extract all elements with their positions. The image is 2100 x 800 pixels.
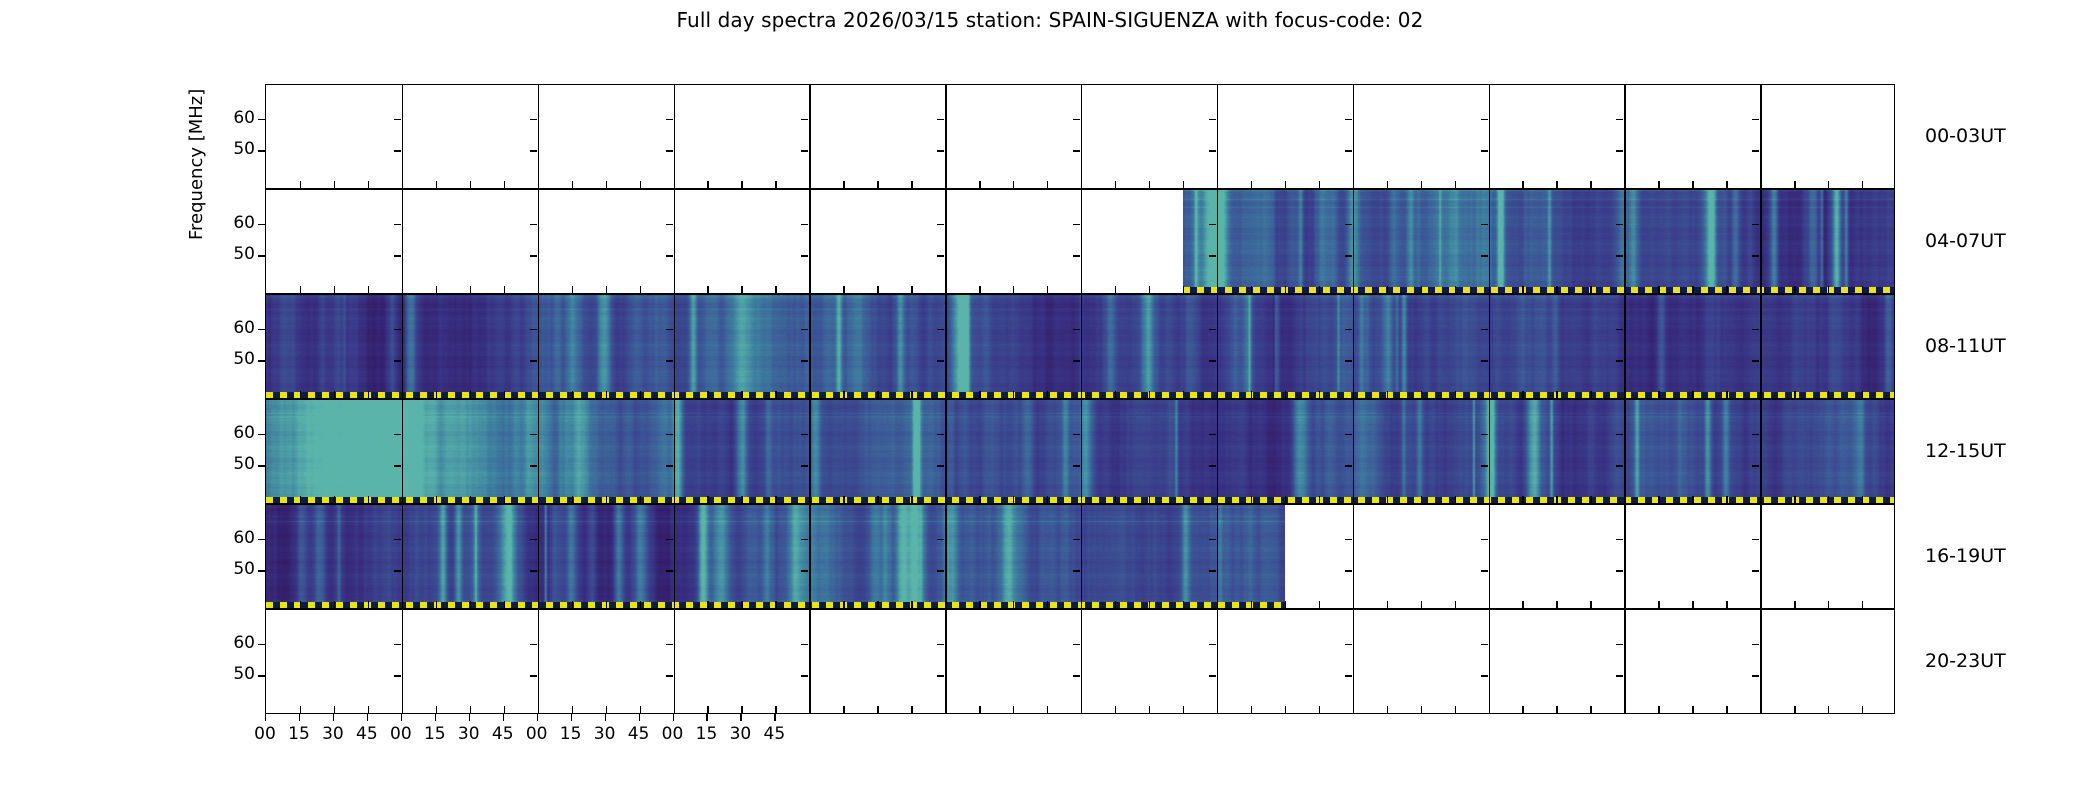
minor-tick — [1421, 706, 1422, 713]
y-tick-mark-inner — [801, 570, 808, 571]
minor-tick — [741, 286, 742, 293]
hour-separator — [809, 295, 810, 398]
minor-tick — [606, 286, 607, 293]
y-tick-mark-inner — [1616, 119, 1623, 120]
minor-tick — [1387, 706, 1388, 713]
minor-tick — [300, 496, 301, 503]
minor-tick — [1590, 286, 1591, 293]
y-tick-mark-inner — [666, 644, 673, 645]
spectrogram-panel — [265, 294, 1895, 399]
y-tick-mark-inner — [801, 150, 808, 151]
x-tick-label: 00 — [254, 724, 276, 744]
y-tick-mark-inner — [1073, 329, 1080, 330]
hour-separator — [1760, 295, 1761, 398]
minor-tick — [1556, 181, 1557, 188]
x-tick-mark — [537, 714, 538, 721]
spectrogram-data — [1183, 190, 1895, 293]
y-tick-mark-inner — [1073, 255, 1080, 256]
minor-tick — [334, 286, 335, 293]
hour-separator — [945, 400, 946, 503]
minor-tick — [1421, 286, 1422, 293]
y-tick-mark-inner — [666, 119, 673, 120]
hour-separator — [945, 85, 946, 188]
hour-separator — [1353, 400, 1354, 503]
minor-tick — [1455, 706, 1456, 713]
minor-tick — [1047, 286, 1048, 293]
minor-tick — [1047, 496, 1048, 503]
y-tick-mark-inner — [1073, 434, 1080, 435]
y-tick-mark-inner — [666, 465, 673, 466]
minor-tick — [1828, 496, 1829, 503]
minor-tick — [1149, 391, 1150, 398]
minor-tick — [843, 286, 844, 293]
minor-tick — [1421, 601, 1422, 608]
x-tick-mark — [367, 714, 368, 721]
minor-tick — [368, 601, 369, 608]
y-tick-mark-inner — [1752, 360, 1759, 361]
x-axis: 00153045001530450015304500153045 — [265, 714, 1895, 754]
minor-tick — [1692, 181, 1693, 188]
y-tick-mark — [258, 675, 265, 676]
minor-tick — [1013, 391, 1014, 398]
hour-separator — [402, 190, 403, 293]
minor-tick — [572, 391, 573, 398]
x-tick-mark — [740, 714, 741, 721]
minor-tick — [1387, 496, 1388, 503]
minor-tick — [1285, 181, 1286, 188]
y-tick-mark-inner — [1616, 434, 1623, 435]
x-tick-mark — [706, 714, 707, 721]
y-tick-mark — [258, 329, 265, 330]
y-tick-mark-inner — [1345, 150, 1352, 151]
y-tick-mark-inner — [1616, 539, 1623, 540]
y-tick-mark-inner — [801, 360, 808, 361]
y-tick-mark-inner — [801, 644, 808, 645]
minor-tick — [1251, 601, 1252, 608]
y-tick-mark-inner — [530, 150, 537, 151]
y-tick-mark — [258, 434, 265, 435]
minor-tick — [1115, 706, 1116, 713]
minor-tick — [911, 391, 912, 398]
hour-separator — [809, 85, 810, 188]
minor-tick — [1421, 496, 1422, 503]
x-tick-mark — [503, 714, 504, 721]
minor-tick — [1828, 601, 1829, 608]
minor-tick — [1047, 391, 1048, 398]
hour-separator — [1353, 505, 1354, 608]
y-tick-mark — [258, 150, 265, 151]
minor-tick — [1556, 391, 1557, 398]
minor-tick — [470, 601, 471, 608]
x-tick-label: 45 — [628, 724, 650, 744]
minor-tick — [334, 706, 335, 713]
minor-tick — [1013, 706, 1014, 713]
minor-tick — [741, 601, 742, 608]
y-tick-mark-inner — [1345, 119, 1352, 120]
minor-tick — [1862, 496, 1863, 503]
y-tick-mark-inner — [666, 434, 673, 435]
y-tick-mark-inner — [1209, 644, 1216, 645]
minor-tick — [1421, 181, 1422, 188]
y-tick-mark-inner — [1345, 465, 1352, 466]
row-time-label: 08-11UT — [1925, 335, 2006, 357]
y-tick-mark-inner — [530, 465, 537, 466]
y-tick-mark-inner — [666, 224, 673, 225]
y-tick-mark — [258, 644, 265, 645]
minor-tick — [1862, 181, 1863, 188]
y-tick-mark-inner — [666, 255, 673, 256]
minor-tick — [1794, 601, 1795, 608]
row-time-label: 12-15UT — [1925, 440, 2006, 462]
hour-separator — [402, 610, 403, 713]
minor-tick — [334, 181, 335, 188]
hour-separator — [1081, 85, 1082, 188]
hour-separator — [402, 400, 403, 503]
minor-tick — [911, 286, 912, 293]
hour-separator — [1624, 505, 1625, 608]
hour-separator — [1489, 505, 1490, 608]
minor-tick — [1183, 391, 1184, 398]
minor-tick — [843, 391, 844, 398]
minor-tick — [741, 181, 742, 188]
minor-tick — [979, 496, 980, 503]
spectrogram-texture — [1183, 190, 1895, 293]
minor-tick — [877, 286, 878, 293]
minor-tick — [775, 601, 776, 608]
y-tick-label: 60 — [221, 633, 255, 653]
hour-separator — [674, 610, 675, 713]
minor-tick — [1828, 181, 1829, 188]
minor-tick — [300, 286, 301, 293]
minor-tick — [640, 286, 641, 293]
hour-separator — [1624, 400, 1625, 503]
y-tick-mark-inner — [1073, 119, 1080, 120]
minor-tick — [775, 706, 776, 713]
x-tick-mark — [265, 714, 266, 721]
minor-tick — [606, 706, 607, 713]
minor-tick — [1251, 706, 1252, 713]
hour-separator — [1217, 400, 1218, 503]
minor-tick — [1692, 601, 1693, 608]
minor-tick — [368, 496, 369, 503]
y-tick-mark-inner — [937, 119, 944, 120]
minor-tick — [1285, 391, 1286, 398]
minor-tick — [1726, 706, 1727, 713]
y-tick-mark-inner — [530, 329, 537, 330]
minor-tick — [1522, 181, 1523, 188]
minor-tick — [1387, 286, 1388, 293]
minor-tick — [1251, 496, 1252, 503]
hour-separator — [538, 295, 539, 398]
minor-tick — [1149, 181, 1150, 188]
y-tick-mark-inner — [394, 465, 401, 466]
y-tick-mark-inner — [530, 224, 537, 225]
minor-tick — [1658, 286, 1659, 293]
hour-separator — [1760, 85, 1761, 188]
spectrogram-panel — [265, 189, 1895, 294]
y-tick-mark-inner — [1481, 150, 1488, 151]
minor-tick — [741, 496, 742, 503]
y-tick-mark-inner — [1752, 329, 1759, 330]
minor-tick — [1251, 181, 1252, 188]
minor-tick — [1692, 286, 1693, 293]
y-tick-mark-inner — [801, 119, 808, 120]
minor-tick — [1387, 601, 1388, 608]
y-tick-mark-inner — [1752, 465, 1759, 466]
minor-tick — [1115, 496, 1116, 503]
minor-tick — [1522, 286, 1523, 293]
minor-tick — [606, 601, 607, 608]
hour-separator — [945, 295, 946, 398]
data-presence-dashline — [1183, 287, 1895, 293]
y-tick-mark-inner — [937, 329, 944, 330]
minor-tick — [300, 706, 301, 713]
x-tick-label: 15 — [696, 724, 718, 744]
minor-tick — [436, 601, 437, 608]
minor-tick — [470, 496, 471, 503]
y-tick-label: 50 — [221, 454, 255, 474]
minor-tick — [707, 286, 708, 293]
minor-tick — [1794, 181, 1795, 188]
minor-tick — [504, 496, 505, 503]
y-tick-mark-inner — [1481, 570, 1488, 571]
hour-separator — [1081, 610, 1082, 713]
minor-tick — [1658, 391, 1659, 398]
y-tick-mark-inner — [1073, 675, 1080, 676]
y-tick-mark-inner — [1209, 465, 1216, 466]
minor-tick — [1047, 601, 1048, 608]
minor-tick — [572, 496, 573, 503]
y-tick-mark-inner — [394, 329, 401, 330]
y-tick-mark-inner — [394, 570, 401, 571]
minor-tick — [1455, 601, 1456, 608]
y-tick-mark-inner — [530, 539, 537, 540]
minor-tick — [1115, 391, 1116, 398]
hour-separator — [1489, 295, 1490, 398]
minor-tick — [1726, 601, 1727, 608]
hour-separator — [1489, 190, 1490, 293]
y-tick-mark-inner — [666, 150, 673, 151]
hour-separator — [1217, 190, 1218, 293]
minor-tick — [1726, 181, 1727, 188]
minor-tick — [911, 601, 912, 608]
hour-separator — [674, 295, 675, 398]
y-tick-mark-inner — [801, 255, 808, 256]
y-tick-mark-inner — [1345, 360, 1352, 361]
y-tick-mark-inner — [394, 434, 401, 435]
minor-tick — [1421, 391, 1422, 398]
minor-tick — [1692, 496, 1693, 503]
hour-separator — [1760, 400, 1761, 503]
minor-tick — [1726, 391, 1727, 398]
minor-tick — [640, 496, 641, 503]
x-tick-label: 15 — [288, 724, 310, 744]
minor-tick — [368, 286, 369, 293]
y-tick-mark-inner — [1616, 465, 1623, 466]
minor-tick — [1115, 286, 1116, 293]
y-tick-mark-inner — [1481, 119, 1488, 120]
y-tick-mark-inner — [530, 360, 537, 361]
x-tick-label: 00 — [390, 724, 412, 744]
minor-tick — [504, 706, 505, 713]
y-tick-mark-inner — [1345, 255, 1352, 256]
minor-tick — [1183, 601, 1184, 608]
y-tick-mark-inner — [1481, 675, 1488, 676]
y-tick-mark-inner — [1616, 360, 1623, 361]
x-tick-mark — [299, 714, 300, 721]
minor-tick — [640, 181, 641, 188]
hour-separator — [402, 505, 403, 608]
y-tick-label: 50 — [221, 559, 255, 579]
y-tick-mark-inner — [1752, 224, 1759, 225]
minor-tick — [300, 391, 301, 398]
minor-tick — [606, 181, 607, 188]
hour-separator — [1760, 190, 1761, 293]
y-tick-mark-inner — [1209, 150, 1216, 151]
y-tick-mark-inner — [1073, 150, 1080, 151]
minor-tick — [1862, 286, 1863, 293]
hour-separator — [538, 85, 539, 188]
y-tick-mark-inner — [937, 539, 944, 540]
y-tick-mark-inner — [1616, 224, 1623, 225]
minor-tick — [877, 181, 878, 188]
minor-tick — [1013, 496, 1014, 503]
y-tick-label: 50 — [221, 664, 255, 684]
figure-title: Full day spectra 2026/03/15 station: SPA… — [0, 8, 2100, 32]
minor-tick — [1658, 181, 1659, 188]
minor-tick — [1149, 496, 1150, 503]
y-tick-mark-inner — [1752, 434, 1759, 435]
minor-tick — [504, 181, 505, 188]
minor-tick — [1183, 181, 1184, 188]
minor-tick — [1115, 181, 1116, 188]
spectrogram-figure: Full day spectra 2026/03/15 station: SPA… — [0, 0, 2100, 800]
minor-tick — [1251, 286, 1252, 293]
minor-tick — [1862, 706, 1863, 713]
y-tick-label: 60 — [221, 528, 255, 548]
minor-tick — [1183, 286, 1184, 293]
minor-tick — [1319, 181, 1320, 188]
minor-tick — [300, 601, 301, 608]
minor-tick — [436, 181, 437, 188]
y-tick-mark-inner — [1209, 570, 1216, 571]
x-tick-mark — [774, 714, 775, 721]
minor-tick — [1794, 391, 1795, 398]
minor-tick — [979, 286, 980, 293]
minor-tick — [368, 391, 369, 398]
y-tick-mark-inner — [937, 255, 944, 256]
y-tick-mark-inner — [1616, 675, 1623, 676]
minor-tick — [1285, 706, 1286, 713]
x-tick-label: 30 — [594, 724, 616, 744]
spectrogram-panel — [265, 609, 1895, 714]
y-tick-mark-inner — [1481, 434, 1488, 435]
minor-tick — [1319, 496, 1320, 503]
y-tick-mark-inner — [1209, 255, 1216, 256]
x-tick-mark — [435, 714, 436, 721]
y-tick-mark-inner — [937, 570, 944, 571]
minor-tick — [1726, 286, 1727, 293]
hour-separator — [1624, 85, 1625, 188]
y-tick-mark-inner — [1209, 119, 1216, 120]
minor-tick — [1522, 391, 1523, 398]
row-time-label: 16-19UT — [1925, 545, 2006, 567]
y-tick-mark-inner — [394, 150, 401, 151]
y-tick-mark-inner — [1345, 224, 1352, 225]
y-tick-mark-inner — [666, 329, 673, 330]
minor-tick — [300, 181, 301, 188]
minor-tick — [877, 706, 878, 713]
y-tick-mark-inner — [394, 644, 401, 645]
y-tick-label: 60 — [221, 318, 255, 338]
minor-tick — [1387, 181, 1388, 188]
minor-tick — [436, 286, 437, 293]
x-tick-mark — [605, 714, 606, 721]
y-tick-mark-inner — [1209, 329, 1216, 330]
hour-separator — [402, 295, 403, 398]
y-tick-label: 60 — [221, 213, 255, 233]
hour-separator — [1489, 610, 1490, 713]
y-tick-mark-inner — [1345, 329, 1352, 330]
hour-separator — [1217, 610, 1218, 713]
y-tick-mark-inner — [1073, 570, 1080, 571]
y-tick-mark-inner — [1073, 539, 1080, 540]
minor-tick — [775, 181, 776, 188]
y-tick-mark-inner — [1616, 570, 1623, 571]
minor-tick — [1828, 391, 1829, 398]
hour-separator — [1217, 505, 1218, 608]
minor-tick — [1047, 706, 1048, 713]
minor-tick — [979, 706, 980, 713]
y-tick-mark-inner — [1345, 570, 1352, 571]
y-tick-mark-inner — [937, 644, 944, 645]
minor-tick — [1455, 286, 1456, 293]
minor-tick — [572, 601, 573, 608]
hour-separator — [1217, 85, 1218, 188]
minor-tick — [572, 706, 573, 713]
hour-separator — [1489, 400, 1490, 503]
spectrogram-data — [266, 505, 1285, 608]
hour-separator — [1624, 295, 1625, 398]
minor-tick — [707, 181, 708, 188]
y-tick-mark-inner — [937, 675, 944, 676]
spectrogram-texture — [266, 505, 1285, 608]
y-tick-mark-inner — [530, 675, 537, 676]
y-tick-mark-inner — [1209, 675, 1216, 676]
hour-separator — [945, 610, 946, 713]
minor-tick — [911, 706, 912, 713]
minor-tick — [334, 391, 335, 398]
x-tick-label: 30 — [458, 724, 480, 744]
x-tick-label: 30 — [730, 724, 752, 744]
minor-tick — [741, 391, 742, 398]
minor-tick — [1692, 706, 1693, 713]
minor-tick — [843, 496, 844, 503]
hour-separator — [1353, 610, 1354, 713]
minor-tick — [1522, 496, 1523, 503]
minor-tick — [470, 391, 471, 398]
hour-separator — [809, 190, 810, 293]
hour-separator — [809, 400, 810, 503]
minor-tick — [775, 496, 776, 503]
y-tick-mark-inner — [1752, 644, 1759, 645]
y-tick-mark-inner — [1752, 570, 1759, 571]
minor-tick — [1794, 496, 1795, 503]
minor-tick — [1522, 706, 1523, 713]
minor-tick — [1726, 496, 1727, 503]
spectrogram-panel — [265, 84, 1895, 189]
minor-tick — [911, 496, 912, 503]
